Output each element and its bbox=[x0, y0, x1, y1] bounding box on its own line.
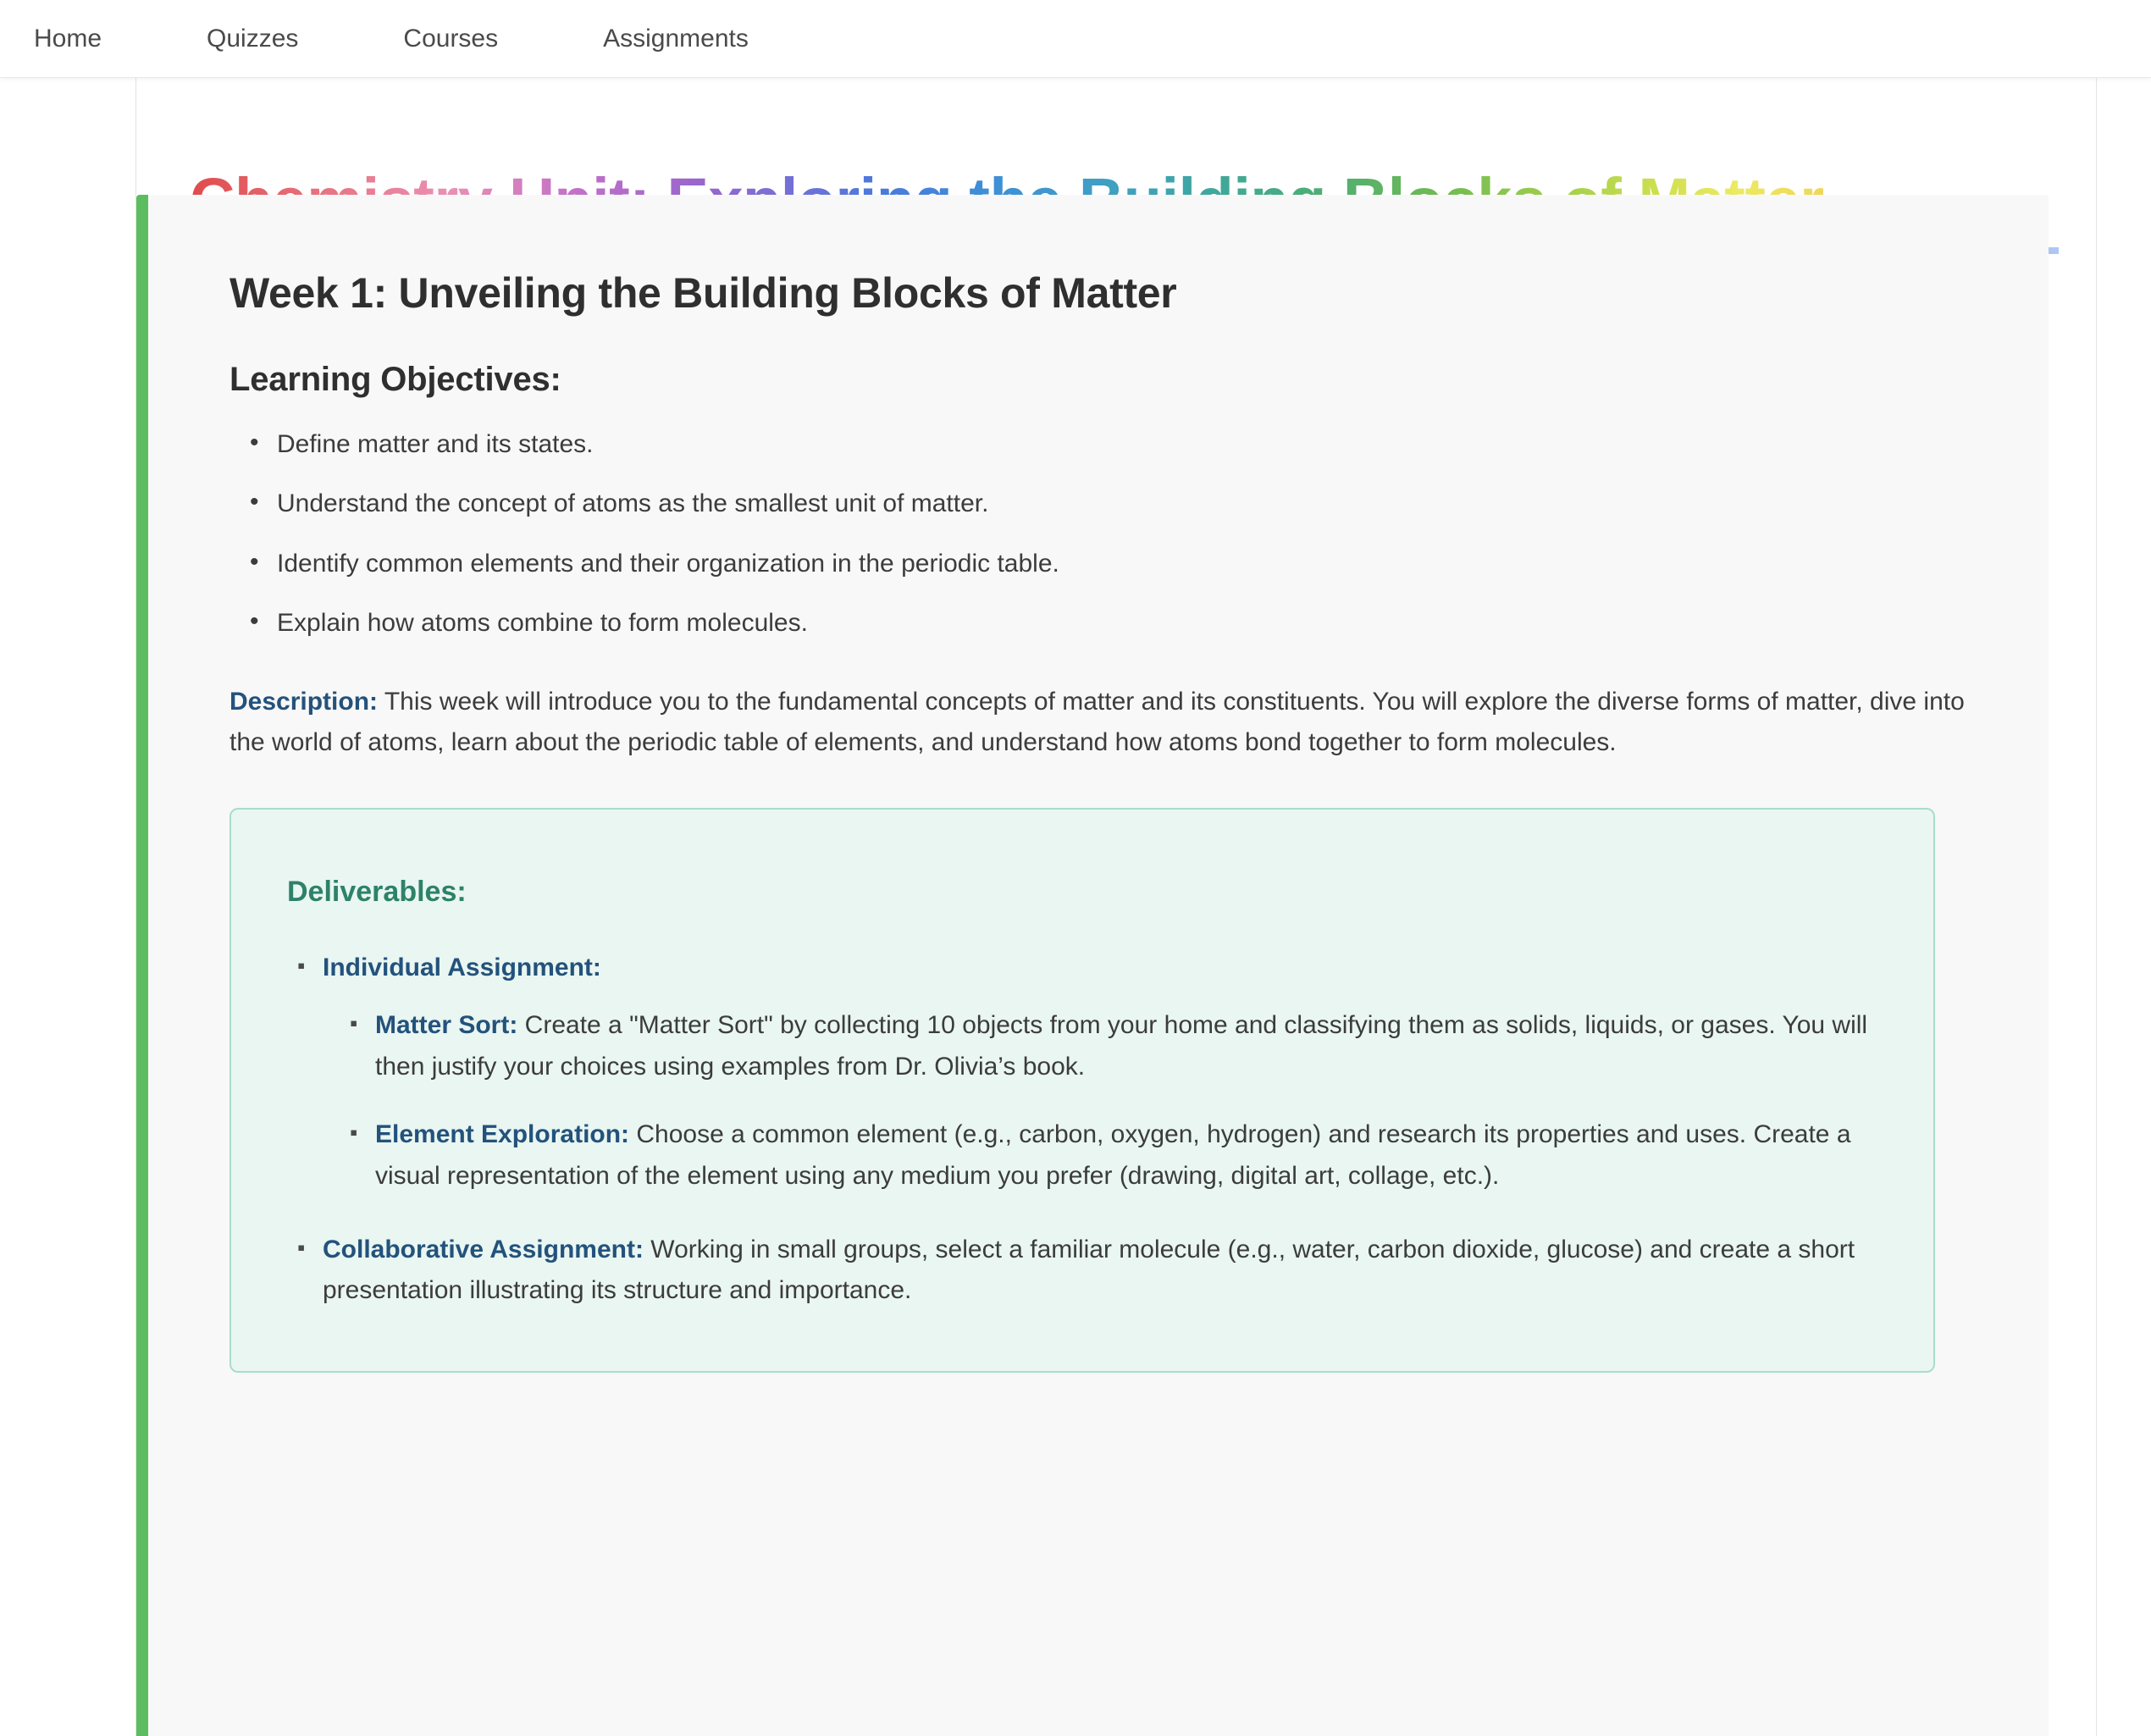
top-navigation-bar: Home Quizzes Courses Assignments bbox=[0, 0, 2151, 78]
objective-text: Understand the concept of atoms as the s… bbox=[277, 489, 988, 517]
collaborative-assignment-label: Collaborative Assignment: bbox=[323, 1236, 644, 1263]
learning-objectives-list: Define matter and its states. Understand… bbox=[229, 399, 1976, 666]
description-text: This week will introduce you to the fund… bbox=[229, 688, 1965, 757]
list-item: Define matter and its states. bbox=[277, 428, 1976, 488]
objective-text: Identify common elements and their organ… bbox=[277, 550, 1059, 578]
list-item-element-exploration: Element Exploration: Choose a common ele… bbox=[375, 1097, 1894, 1207]
week-card: Week 1: Unveiling the Building Blocks of… bbox=[136, 195, 2049, 1736]
list-item: Identify common elements and their organ… bbox=[277, 547, 1976, 607]
list-item-collaborative-assignment: Collaborative Assignment: Working in sma… bbox=[323, 1230, 1894, 1312]
individual-assignment-label: Individual Assignment: bbox=[323, 954, 601, 981]
learning-objectives-heading: Learning Objectives: bbox=[229, 318, 1976, 399]
matter-sort-text: Create a "Matter Sort" by collecting 10 … bbox=[375, 1011, 1867, 1081]
nav-item-assignments[interactable]: Assignments bbox=[588, 26, 764, 52]
description-paragraph: Description: This week will introduce yo… bbox=[229, 666, 1976, 764]
deliverables-heading: Deliverables: bbox=[270, 857, 1894, 909]
objective-text: Explain how atoms combine to form molecu… bbox=[277, 609, 808, 637]
list-item-matter-sort: Matter Sort: Create a "Matter Sort" by c… bbox=[375, 988, 1894, 1097]
element-exploration-label: Element Exploration: bbox=[375, 1120, 629, 1148]
objective-text: Define matter and its states. bbox=[277, 430, 594, 458]
nav-item-quizzes[interactable]: Quizzes bbox=[191, 26, 313, 52]
page-frame: Chemistry Unit: Exploring the Building B… bbox=[135, 78, 2097, 1736]
deliverables-list: Individual Assignment: Matter Sort: Crea… bbox=[270, 909, 1894, 1312]
matter-sort-label: Matter Sort: bbox=[375, 1011, 517, 1039]
description-label: Description: bbox=[229, 688, 378, 716]
nav-item-home[interactable]: Home bbox=[19, 26, 117, 52]
list-item-individual-assignment: Individual Assignment: Matter Sort: Crea… bbox=[323, 948, 1894, 1208]
deliverables-box: Deliverables: Individual Assignment: Mat… bbox=[229, 808, 1935, 1373]
list-item: Understand the concept of atoms as the s… bbox=[277, 487, 1976, 547]
individual-assignment-sublist: Matter Sort: Create a "Matter Sort" by c… bbox=[323, 988, 1894, 1207]
nav-item-courses[interactable]: Courses bbox=[388, 26, 513, 52]
week-heading: Week 1: Unveiling the Building Blocks of… bbox=[229, 242, 1976, 318]
list-item: Explain how atoms combine to form molecu… bbox=[277, 606, 1976, 666]
